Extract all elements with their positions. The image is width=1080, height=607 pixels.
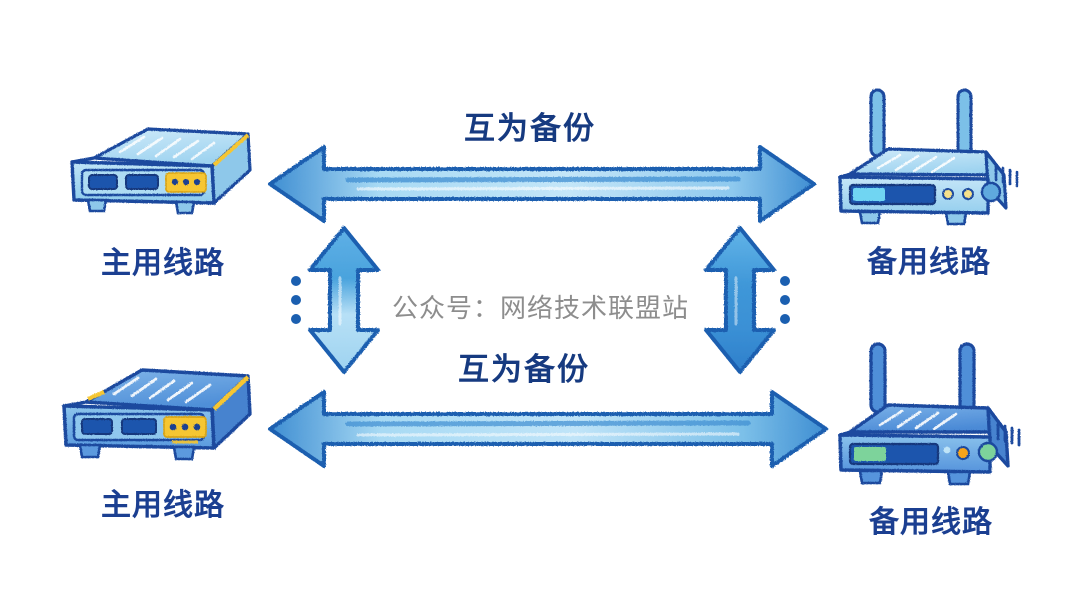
diagram-canvas: 主用线路 — [0, 0, 1080, 607]
connection-link-right-vertical[interactable] — [700, 226, 780, 374]
device-switch-bottom-left[interactable]: 主用线路 — [52, 358, 267, 483]
device-router-bottom-right[interactable]: 备用线路 — [828, 340, 1033, 495]
device-label-router-bottom-right: 备用线路 — [846, 497, 1016, 541]
double-headed-horizontal-arrow-icon — [268, 388, 828, 470]
connection-dots-icon — [776, 274, 794, 326]
connection-link-top[interactable]: 互为备份 — [268, 143, 816, 225]
device-label-switch-top-left: 主用线路 — [78, 238, 248, 282]
device-switch-top-left[interactable]: 主用线路 — [62, 118, 262, 238]
device-label-router-top-right: 备用线路 — [844, 237, 1014, 281]
connection-label-link-top: 互为备份 — [464, 103, 596, 148]
network-switch-icon — [52, 358, 267, 483]
double-headed-vertical-arrow-icon — [700, 226, 780, 374]
connection-link-left-vertical[interactable] — [304, 226, 384, 374]
connection-label-link-bottom: 互为备份 — [458, 344, 590, 389]
connection-link-bottom[interactable]: 互为备份 — [268, 388, 828, 470]
device-router-top-right[interactable]: 备用线路 — [828, 82, 1033, 237]
wireless-router-icon — [828, 82, 1033, 237]
double-headed-vertical-arrow-icon — [304, 226, 384, 374]
connection-dots-icon — [287, 274, 305, 326]
device-label-switch-bottom-left: 主用线路 — [78, 480, 248, 524]
double-headed-horizontal-arrow-icon — [268, 143, 816, 225]
watermark-text: 公众号：网络技术联盟站 — [392, 288, 689, 325]
network-switch-icon — [62, 118, 262, 238]
wireless-router-icon — [828, 340, 1033, 495]
